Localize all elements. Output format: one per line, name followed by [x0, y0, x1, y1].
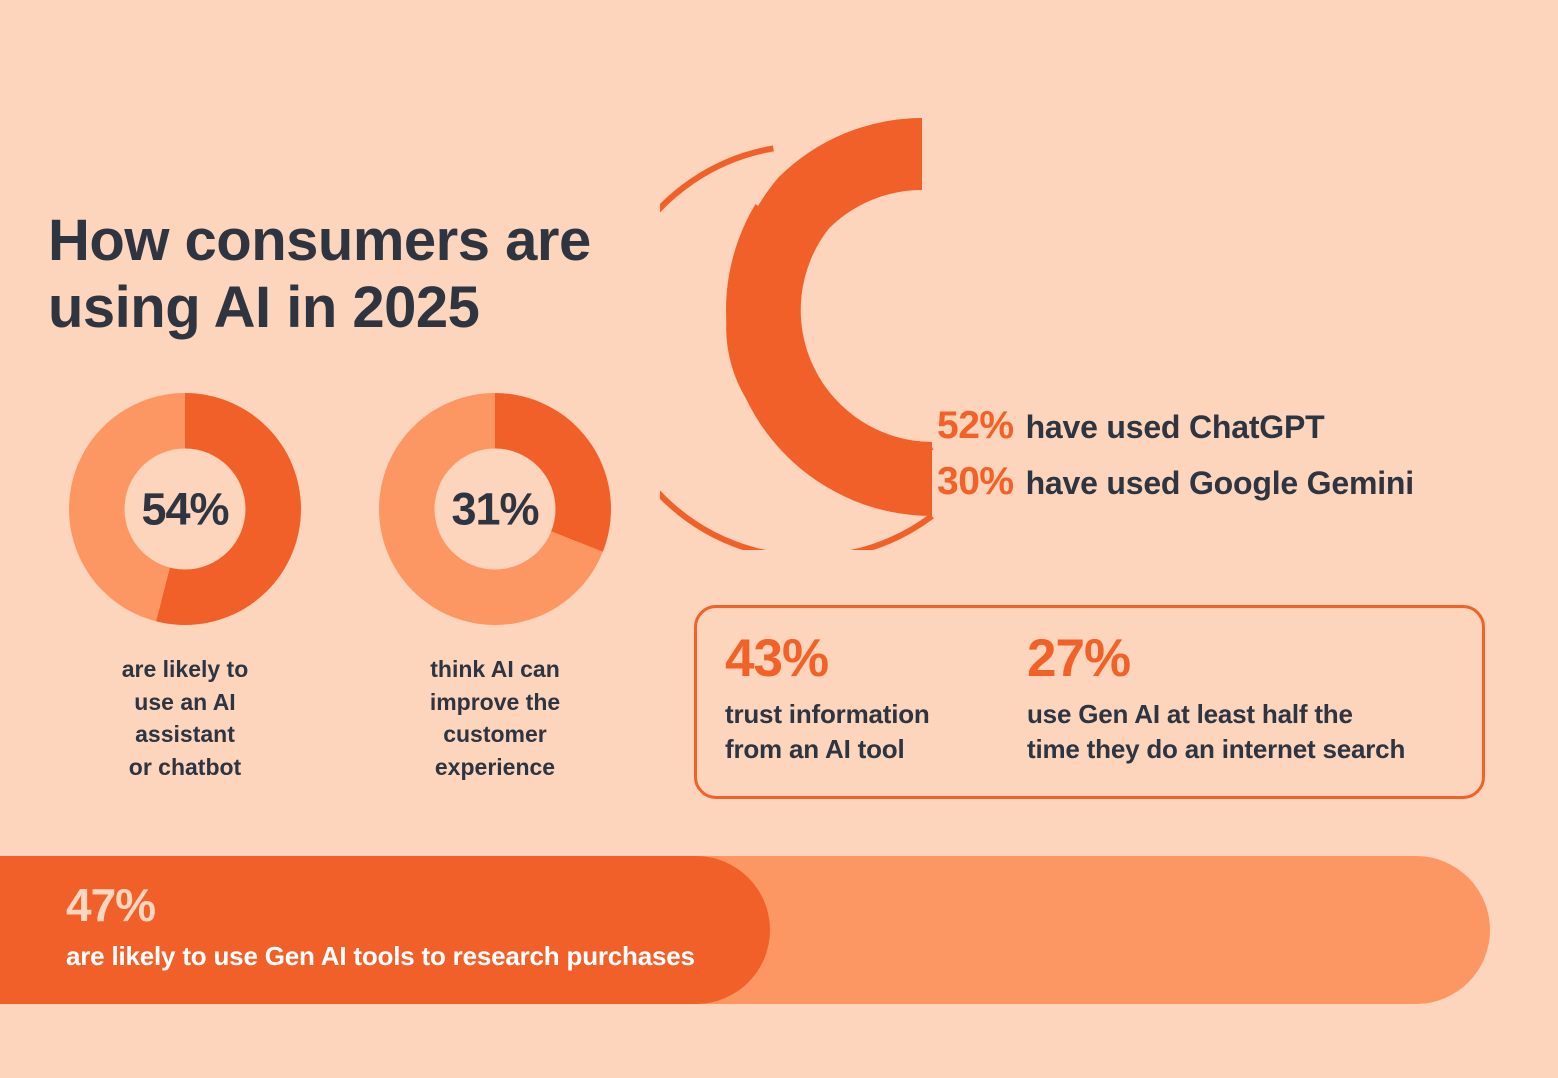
donut-chart-1: 31%: [379, 393, 611, 625]
arc-value-inner-52: [730, 118, 932, 514]
legend-percent-chatgpt: 52%: [937, 404, 1014, 448]
stat-percent-search: 27%: [1027, 632, 1467, 685]
donut-caption-0: are likely to use an AI assistant or cha…: [60, 653, 310, 784]
donut-caption-1: think AI can improve the customer experi…: [370, 653, 620, 784]
stat-item-trust: 43% trust information from an AI tool: [725, 632, 1025, 766]
stat-box: 43% trust information from an AI tool 27…: [694, 605, 1485, 799]
donut-card-0: 54% are likely to use an AI assistant or…: [60, 393, 310, 784]
legend-percent-gemini: 30%: [937, 460, 1014, 504]
progress-bar-percent: 47%: [66, 882, 756, 928]
legend-item-gemini: 30% have used Google Gemini: [937, 460, 1537, 516]
legend-label-chatgpt: have used ChatGPT: [1026, 409, 1325, 446]
donut-card-1: 31% think AI can improve the customer ex…: [370, 393, 620, 784]
stat-percent-trust: 43%: [725, 632, 1025, 685]
donut-center-0: 54%: [125, 449, 246, 570]
arc-chart-legend: 52% have used ChatGPT 30% have used Goog…: [937, 404, 1537, 516]
legend-label-gemini: have used Google Gemini: [1026, 465, 1414, 502]
donut-chart-0: 54%: [69, 393, 301, 625]
stat-label-trust: trust information from an AI tool: [725, 697, 1025, 766]
page-title: How consumers are using AI in 2025: [48, 207, 668, 342]
progress-bar: 47% are likely to use Gen AI tools to re…: [0, 856, 1490, 1004]
stat-item-search: 27% use Gen AI at least half the time th…: [1027, 632, 1467, 766]
stat-label-search: use Gen AI at least half the time they d…: [1027, 697, 1467, 766]
legend-item-chatgpt: 52% have used ChatGPT: [937, 404, 1537, 460]
donut-center-1: 31%: [435, 449, 556, 570]
donut-value-0: 54%: [141, 487, 228, 532]
infographic-canvas: How consumers are using AI in 2025 54% a…: [0, 0, 1558, 1078]
donut-chart-group: 54% are likely to use an AI assistant or…: [48, 393, 648, 813]
progress-bar-label: 47% are likely to use Gen AI tools to re…: [66, 882, 756, 971]
progress-bar-text: are likely to use Gen AI tools to resear…: [66, 942, 756, 971]
donut-value-1: 31%: [451, 487, 538, 532]
